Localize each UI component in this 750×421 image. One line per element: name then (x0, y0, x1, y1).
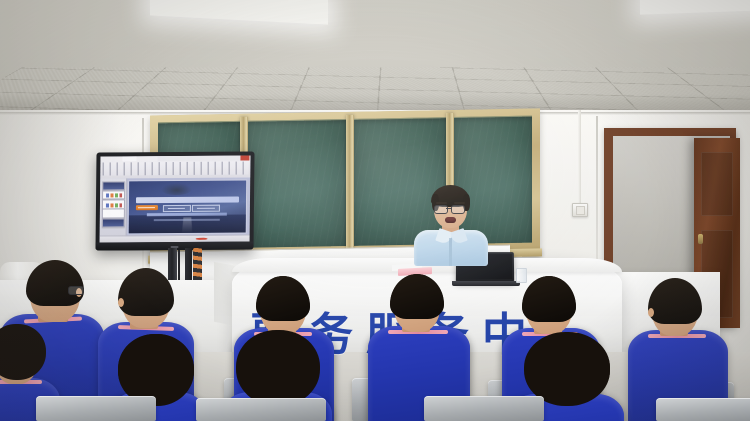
eyeglasses-icon-left (434, 205, 448, 214)
ceiling-light-panel-left (150, 0, 328, 25)
chair-front-1[interactable] (36, 396, 156, 421)
instructor-shirt-placket (449, 238, 452, 266)
presentation-display[interactable] (95, 151, 254, 250)
student-ear (118, 298, 124, 307)
slide-thumbnail-pane[interactable] (100, 179, 127, 237)
eyeglasses-icon-right (451, 205, 465, 214)
slide-subtitle-text (147, 213, 227, 217)
slide-thumbnail-2[interactable] (102, 190, 126, 200)
chair-front-3[interactable] (424, 396, 544, 421)
ceiling (0, 0, 750, 128)
slide-thumbnail-4[interactable] (102, 209, 126, 219)
laptop-base (452, 281, 520, 286)
ribbon-icon-strip (102, 161, 248, 175)
student-ear (648, 308, 654, 317)
record-indicator-icon (196, 237, 208, 240)
slide-secondary-button-1[interactable] (163, 205, 191, 212)
slide-fineprint-text (154, 218, 220, 221)
ribbon-tab-active[interactable] (122, 156, 136, 161)
eyeglasses-icon (68, 286, 84, 295)
instructor-brow-left (436, 202, 447, 204)
door-handle-icon[interactable] (698, 234, 703, 244)
light-switch[interactable] (572, 203, 588, 217)
slide-thumbnail-3[interactable] (102, 199, 126, 209)
eyeglasses-bridge-icon (446, 208, 451, 209)
slide-secondary-button-2[interactable] (192, 205, 220, 212)
slide-title-text (136, 197, 240, 203)
chalkboard-panel-2 (248, 119, 346, 248)
instructor-mouth-speaking (445, 217, 456, 223)
slide-primary-button[interactable] (135, 205, 157, 210)
slide-cloud-graphic-icon (162, 183, 193, 195)
student-hair (236, 330, 320, 406)
slide-road-graphic (128, 214, 246, 234)
display-screen[interactable] (100, 155, 251, 242)
chair-front-4[interactable] (656, 398, 750, 421)
classroom-photo: 票务服务中 (0, 0, 750, 421)
slide-thumbnail-1[interactable] (102, 181, 126, 191)
instructor-brow-right (454, 202, 465, 204)
student-hair (524, 332, 610, 406)
speaking-instructor (414, 188, 488, 266)
door-inset-upper (701, 152, 733, 216)
chalkboard-divider-2 (346, 115, 354, 251)
powerpoint-ribbon (100, 155, 250, 178)
water-cup (516, 268, 527, 283)
current-slide[interactable] (128, 180, 246, 233)
chair-front-2[interactable] (196, 398, 326, 421)
slide-thumbnail-5[interactable] (102, 218, 126, 228)
window-close-icon[interactable] (240, 155, 249, 160)
switch-conduit (578, 110, 581, 205)
ceiling-light-panel-right (640, 0, 750, 15)
